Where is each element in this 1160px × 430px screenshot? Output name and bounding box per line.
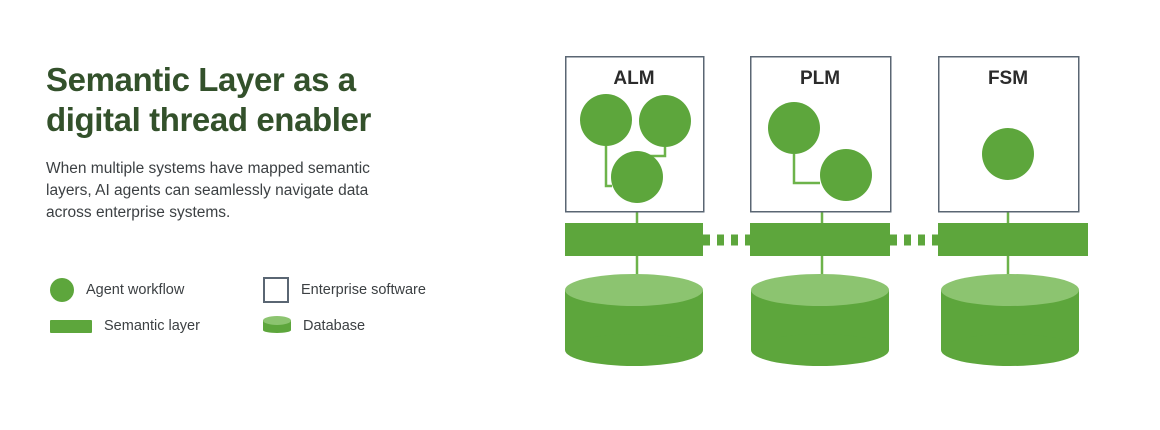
enterprise-software-box bbox=[566, 57, 704, 212]
database-top bbox=[941, 274, 1079, 306]
semantic-layer-bar bbox=[938, 223, 1088, 256]
system-group-fsm: FSM bbox=[938, 57, 1088, 366]
page-title: Semantic Layer as a digital thread enabl… bbox=[46, 60, 486, 140]
agent-workflow-connector bbox=[637, 147, 665, 156]
database-bottom bbox=[565, 334, 703, 366]
page-description: When multiple systems have mapped semant… bbox=[46, 158, 466, 224]
legend-label: Semantic layer bbox=[104, 318, 200, 334]
legend-label: Agent workflow bbox=[86, 282, 184, 298]
cylinder-swatch-icon bbox=[263, 316, 291, 336]
intro-text-block: Semantic Layer as a digital thread enabl… bbox=[46, 60, 486, 224]
legend-item-database: Database bbox=[263, 316, 460, 336]
agent-workflow-connector bbox=[794, 154, 820, 183]
database-body bbox=[941, 290, 1079, 350]
system-name-label: ALM bbox=[613, 68, 654, 89]
agent-workflow-connector bbox=[606, 146, 612, 186]
semantic-layer-bar bbox=[750, 223, 890, 256]
cylinder-top bbox=[263, 316, 291, 325]
database-top bbox=[565, 274, 703, 306]
system-group-plm: PLM bbox=[750, 57, 891, 366]
bar-swatch-icon bbox=[50, 320, 92, 333]
system-name-label: FSM bbox=[988, 68, 1028, 89]
legend-item-agent-workflow: Agent workflow bbox=[50, 278, 255, 302]
database-top bbox=[751, 274, 889, 306]
legend-label: Database bbox=[303, 318, 365, 334]
circle-swatch-icon bbox=[50, 278, 74, 302]
legend-label: Enterprise software bbox=[301, 282, 426, 298]
agent-workflow-node bbox=[982, 128, 1034, 180]
database-bottom bbox=[941, 334, 1079, 366]
agent-workflow-node bbox=[768, 102, 820, 154]
enterprise-software-box bbox=[751, 57, 891, 212]
agent-workflow-node bbox=[639, 95, 691, 147]
system-group-alm: ALM bbox=[565, 57, 704, 366]
legend-item-enterprise-software: Enterprise software bbox=[263, 277, 460, 303]
database-body bbox=[565, 290, 703, 350]
semantic-layer-bar bbox=[565, 223, 703, 256]
system-name-label: PLM bbox=[800, 68, 840, 89]
database-bottom bbox=[751, 334, 889, 366]
agent-workflow-node bbox=[611, 151, 663, 203]
enterprise-software-box bbox=[939, 57, 1079, 212]
square-outline-swatch-icon bbox=[263, 277, 289, 303]
legend: Agent workflow Enterprise software Seman… bbox=[50, 272, 470, 344]
agent-workflow-node bbox=[580, 94, 632, 146]
agent-workflow-node bbox=[820, 149, 872, 201]
database-body bbox=[751, 290, 889, 350]
legend-item-semantic-layer: Semantic layer bbox=[50, 318, 255, 334]
